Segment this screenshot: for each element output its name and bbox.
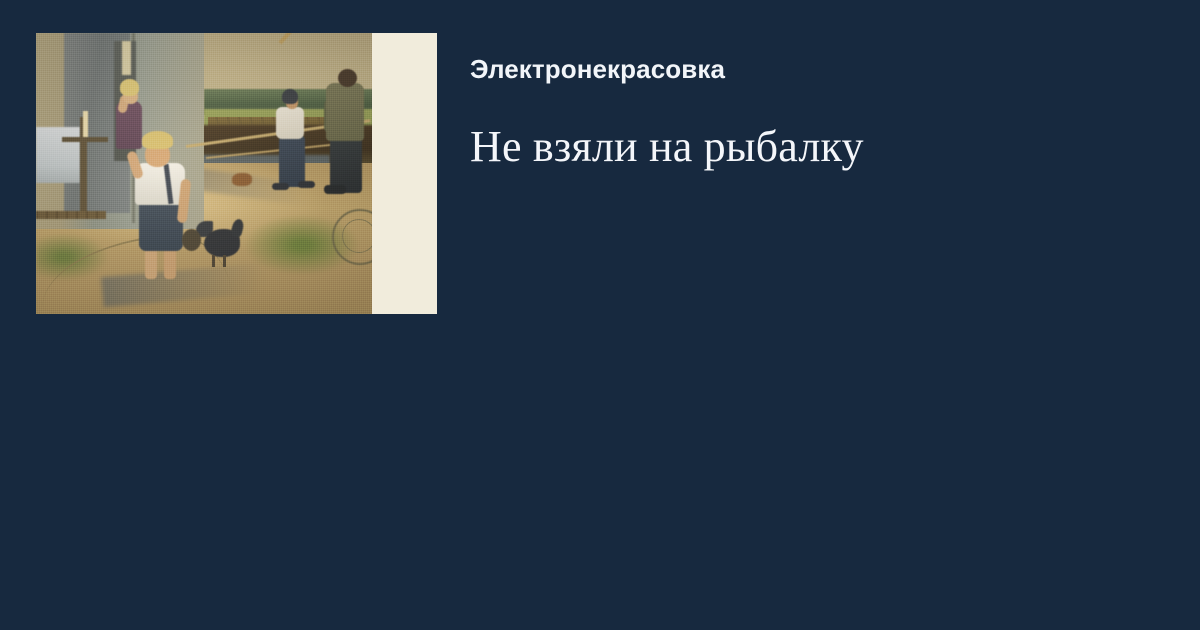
hen-leg-left xyxy=(212,255,215,267)
departing-boy-shirt xyxy=(276,107,304,139)
crying-boy-shorts xyxy=(139,199,183,251)
departing-boy-cap xyxy=(282,89,298,104)
og-preview-card: Электронекрасовка Не взяли на рыбалку xyxy=(0,0,1200,630)
window-light xyxy=(122,41,131,75)
postcard-paper-margin xyxy=(372,33,437,314)
crying-boy-shirt xyxy=(135,163,185,205)
cat-figure xyxy=(232,173,252,186)
departing-boy-shoe-left xyxy=(272,183,289,190)
departing-boy-trousers xyxy=(279,135,305,187)
man-torso xyxy=(326,83,364,141)
man-head xyxy=(338,69,357,87)
departing-boy-shoe-right xyxy=(298,181,315,188)
page-title: Не взяли на рыбалку xyxy=(470,86,1160,174)
hanging-laundry xyxy=(36,127,80,183)
chick-figure xyxy=(182,229,201,251)
white-post-top xyxy=(83,111,88,137)
painting-illustration xyxy=(36,33,372,314)
text-column: Электронекрасовка Не взяли на рыбалку xyxy=(470,33,1160,174)
girl-figure-hair xyxy=(120,79,139,96)
site-name: Электронекрасовка xyxy=(470,33,1160,86)
bicycle-wheel-hub xyxy=(342,219,372,253)
low-fence xyxy=(36,211,106,219)
man-boot xyxy=(324,185,346,194)
article-thumbnail[interactable] xyxy=(36,33,437,314)
crying-boy-hair xyxy=(142,131,173,149)
hen-leg-right xyxy=(223,255,226,267)
